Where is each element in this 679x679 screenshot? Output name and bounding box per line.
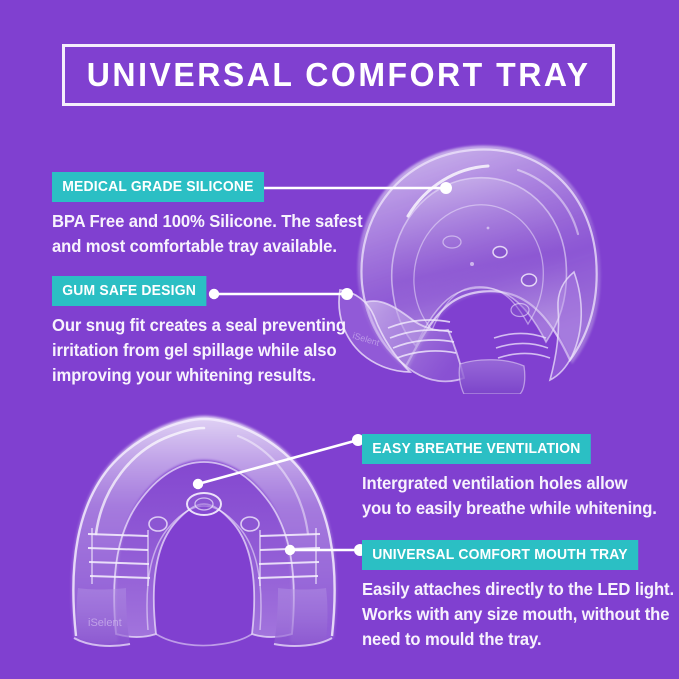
feature-text-line: improving your whitening results. (52, 363, 337, 388)
feature-badge-easy-breathe-ventilation: EASY BREATHE VENTILATION (362, 434, 591, 464)
feature-text-gum-safe-design: Our snug fit creates a seal preventing i… (52, 313, 337, 388)
feature-gum-safe-design: GUM SAFE DESIGN Our snug fit creates a s… (52, 276, 352, 388)
page-title-box: UNIVERSAL COMFORT TRAY (62, 44, 615, 106)
feature-medical-grade-silicone: MEDICAL GRADE SILICONE BPA Free and 100%… (52, 172, 352, 259)
feature-text-line: you to easily breathe while whitening. (362, 496, 638, 521)
infographic-root: UNIVERSAL COMFORT TRAY (0, 0, 679, 679)
feature-text-line: Works with any size mouth, without the (362, 602, 647, 627)
product-image-lower-tray: iSelent (52, 412, 352, 664)
feature-text-universal-comfort-mouth-tray: Easily attaches directly to the LED ligh… (362, 577, 647, 652)
feature-text-line: Intergrated ventilation holes allow (362, 471, 638, 496)
feature-text-medical-grade-silicone: BPA Free and 100% Silicone. The safest a… (52, 209, 337, 259)
feature-badge-medical-grade-silicone: MEDICAL GRADE SILICONE (52, 172, 264, 202)
feature-text-line: need to mould the tray. (362, 627, 647, 652)
feature-universal-comfort-mouth-tray: UNIVERSAL COMFORT MOUTH TRAY Easily atta… (362, 540, 662, 652)
feature-text-line: Easily attaches directly to the LED ligh… (362, 577, 647, 602)
feature-text-line: irritation from gel spillage while also (52, 338, 337, 363)
feature-badge-universal-comfort-mouth-tray: UNIVERSAL COMFORT MOUTH TRAY (362, 540, 638, 570)
feature-text-line: Our snug fit creates a seal preventing (52, 313, 337, 338)
feature-badge-gum-safe-design: GUM SAFE DESIGN (52, 276, 206, 306)
feature-easy-breathe-ventilation: EASY BREATHE VENTILATION Intergrated ven… (362, 434, 652, 521)
product-image-upper-tray: iSelent (322, 132, 622, 394)
feature-text-line: and most comfortable tray available. (52, 234, 337, 259)
feature-text-easy-breathe-ventilation: Intergrated ventilation holes allow you … (362, 471, 638, 521)
svg-text:iSelent: iSelent (88, 617, 122, 629)
page-title: UNIVERSAL COMFORT TRAY (87, 56, 591, 94)
feature-text-line: BPA Free and 100% Silicone. The safest (52, 209, 337, 234)
